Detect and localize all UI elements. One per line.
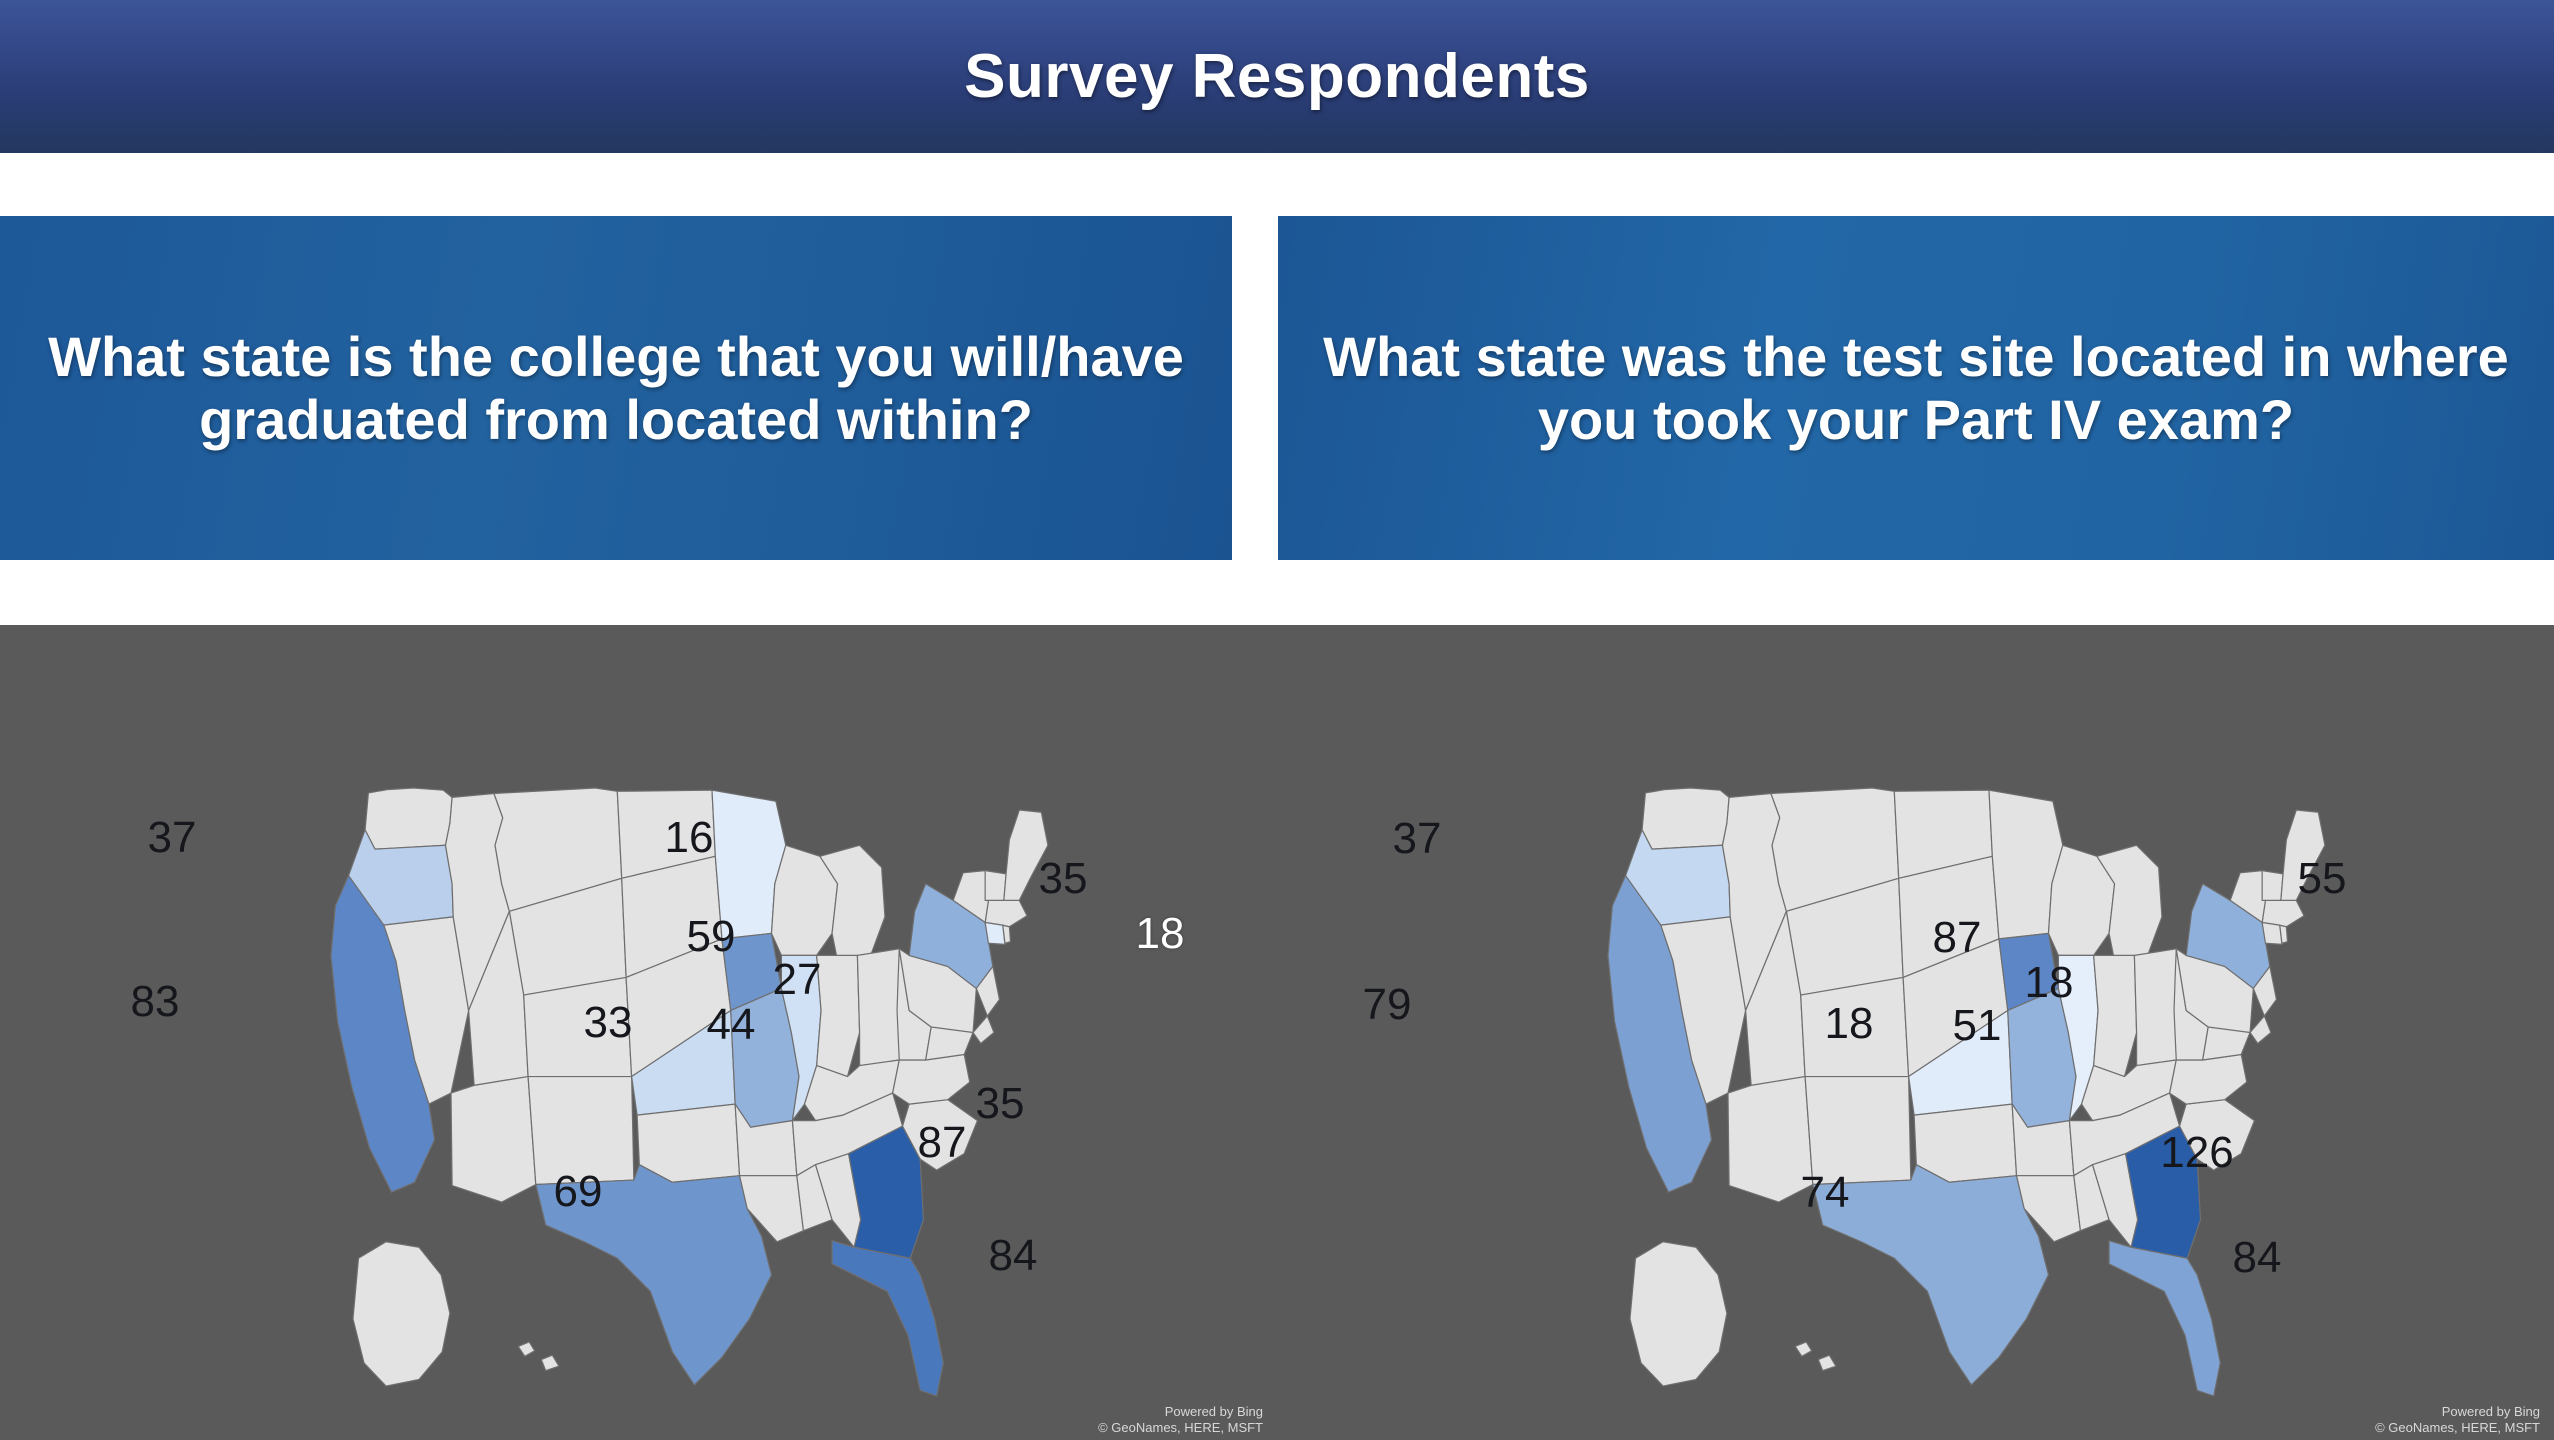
state-value-label-ct: 18	[1136, 909, 1185, 959]
state-value-label-ca: 83	[131, 977, 180, 1027]
state-value-label-ny: 35	[1039, 854, 1088, 904]
map-attribution-left: Powered by Bing © GeoNames, HERE, MSFT	[1098, 1404, 1263, 1437]
slide-root: Survey Respondents What state is the col…	[0, 0, 2554, 1440]
state-value-label-il: 18	[2025, 958, 2074, 1008]
question-box-test-site-state: What state was the test site located in …	[1278, 216, 2554, 560]
page-title: Survey Respondents	[964, 41, 1590, 112]
state-value-label-ia: 59	[687, 912, 736, 962]
state-value-label-ga: 87	[918, 1118, 967, 1168]
state-value-label-ca: 79	[1363, 980, 1412, 1030]
map-value-labels-left: 37831659273344351835878469	[0, 625, 1277, 1440]
attribution-line-2: © GeoNames, HERE, MSFT	[2375, 1420, 2540, 1436]
state-value-label-mo: 44	[707, 1000, 756, 1050]
state-value-label-or: 37	[148, 813, 197, 863]
state-value-label-tx: 69	[554, 1167, 603, 1217]
attribution-line-2: © GeoNames, HERE, MSFT	[1098, 1420, 1263, 1436]
state-value-label-ks: 18	[1825, 999, 1874, 1049]
attribution-line-1: Powered by Bing	[1098, 1404, 1263, 1420]
state-value-label-or: 37	[1393, 814, 1442, 864]
state-value-label-ks: 33	[584, 998, 633, 1048]
map-value-labels-right: 377987181851551268474	[1277, 625, 2554, 1440]
state-value-label-ny: 55	[2298, 854, 2347, 904]
state-value-label-ia: 87	[1933, 913, 1982, 963]
question-box-college-state: What state is the college that you will/…	[0, 216, 1232, 560]
state-value-label-il: 27	[773, 955, 822, 1005]
state-value-label-fl: 84	[2233, 1233, 2282, 1283]
state-value-label-ga: 126	[2160, 1128, 2233, 1178]
question-text-test-site-state: What state was the test site located in …	[1322, 325, 2510, 452]
state-value-label-tx: 74	[1801, 1168, 1850, 1218]
maps-region: 37831659273344351835878469 Powered by Bi…	[0, 625, 2554, 1440]
state-value-label-sc: 35	[976, 1079, 1025, 1129]
attribution-line-1: Powered by Bing	[2375, 1404, 2540, 1420]
state-value-label-fl: 84	[989, 1231, 1038, 1281]
choropleth-map-college-state[interactable]: 37831659273344351835878469 Powered by Bi…	[0, 625, 1277, 1440]
question-text-college-state: What state is the college that you will/…	[44, 325, 1188, 452]
map-attribution-right: Powered by Bing © GeoNames, HERE, MSFT	[2375, 1404, 2540, 1437]
state-value-label-mo: 51	[1953, 1001, 2002, 1051]
state-value-label-mn: 16	[665, 813, 714, 863]
slide-title-bar: Survey Respondents	[0, 0, 2554, 153]
choropleth-map-test-site-state[interactable]: 377987181851551268474 Powered by Bing © …	[1277, 625, 2554, 1440]
